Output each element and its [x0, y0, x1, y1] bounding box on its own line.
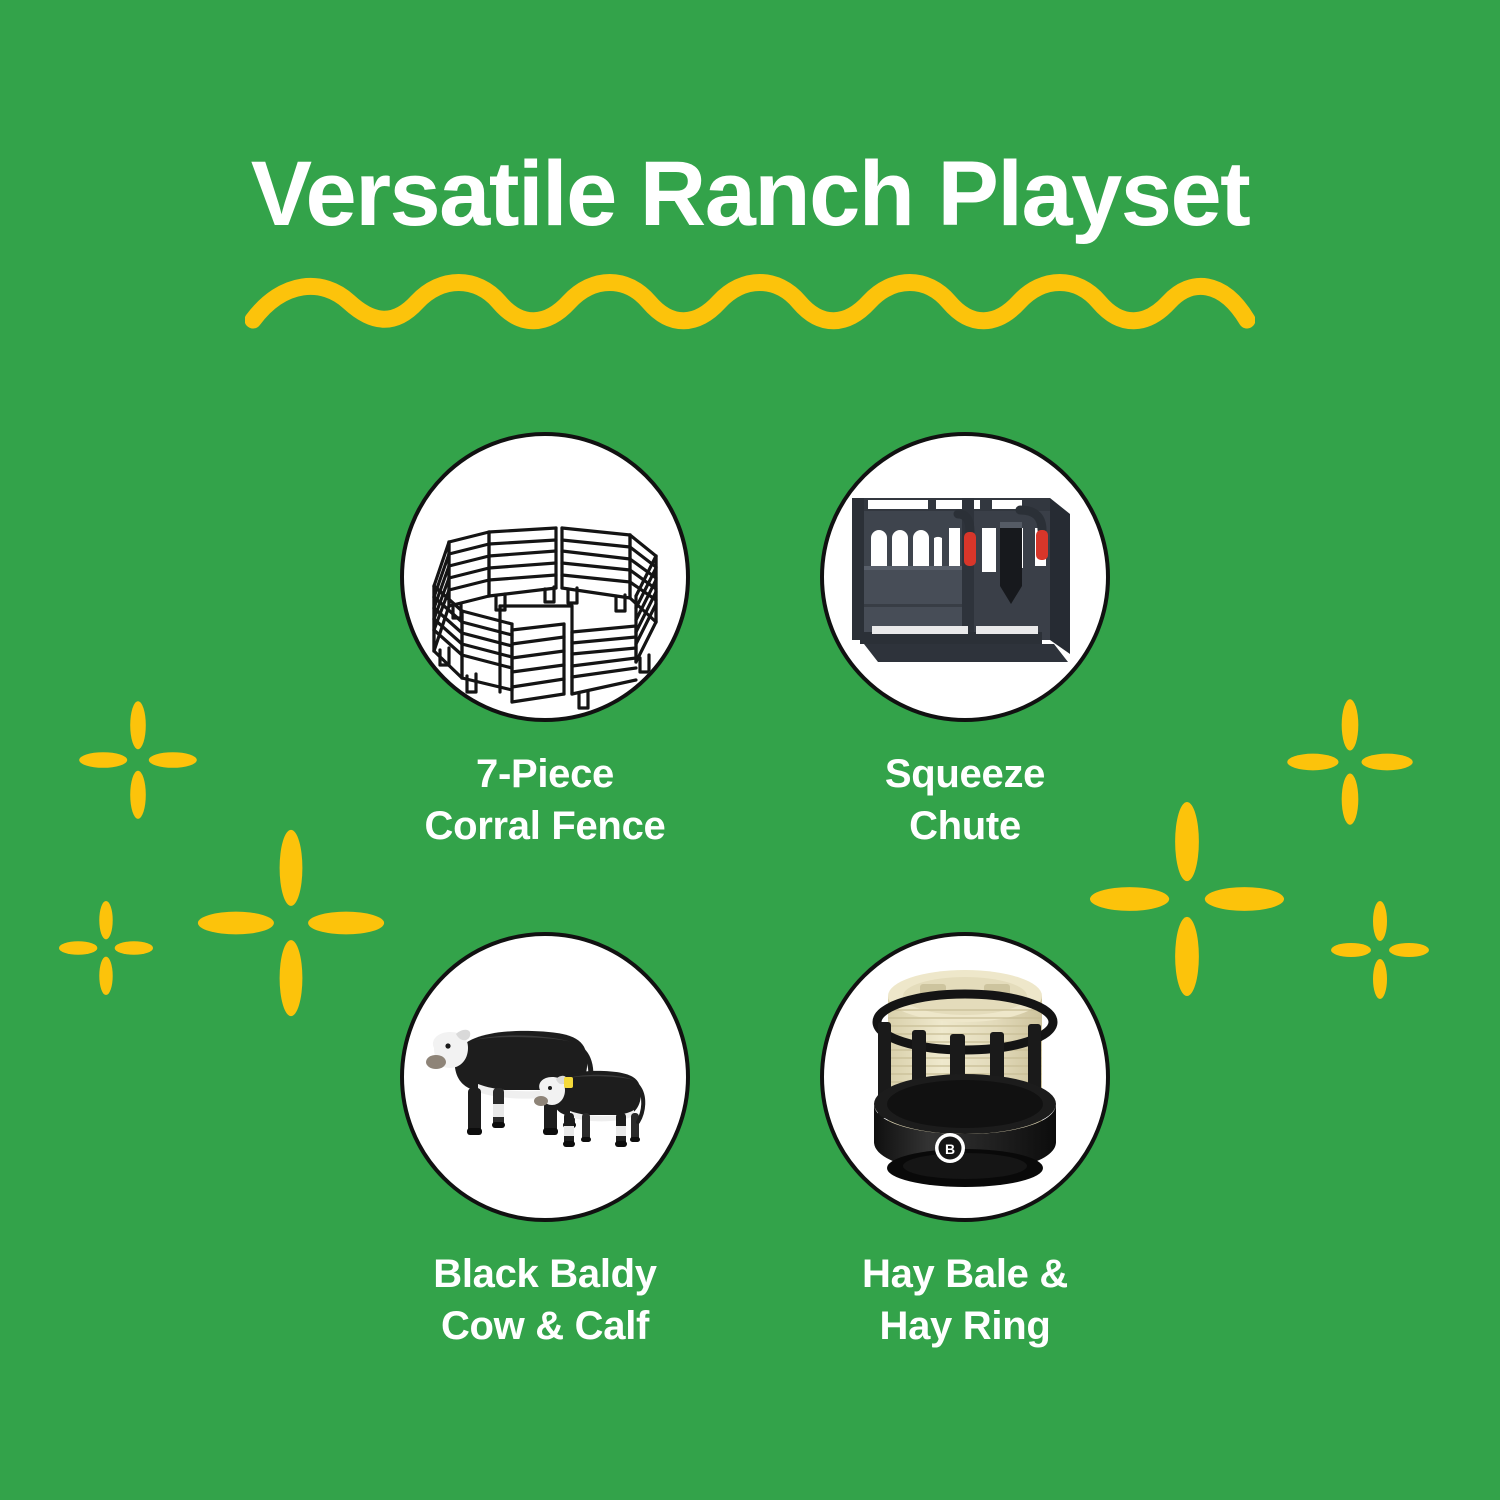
- product-image-bubble: B: [820, 932, 1110, 1222]
- infographic-canvas: Versatile Ranch Playset: [0, 0, 1500, 1500]
- product-label: Black Baldy Cow & Calf: [335, 1248, 755, 1352]
- squeeze-chute-icon: [824, 436, 1106, 718]
- four-point-sparkle-icon: [58, 900, 154, 996]
- chute-handle-red: [1036, 530, 1048, 560]
- ear-tag: [564, 1077, 573, 1088]
- chute-handle-red: [964, 532, 976, 566]
- wavy-squiggle-icon: [245, 272, 1255, 336]
- product-label: Squeeze Chute: [755, 748, 1175, 852]
- product-item-cow-and-calf[interactable]: Black Baldy Cow & Calf: [335, 932, 755, 1352]
- product-item-squeeze-chute[interactable]: Squeeze Chute: [755, 432, 1175, 852]
- hay-bale-hay-ring-icon: B: [824, 936, 1106, 1218]
- page-title: Versatile Ranch Playset: [0, 148, 1500, 242]
- four-point-sparkle-icon: [78, 700, 198, 820]
- product-item-corral-fence[interactable]: 7-Piece Corral Fence: [335, 432, 755, 852]
- svg-text:B: B: [945, 1141, 955, 1157]
- product-image-bubble: [400, 932, 690, 1222]
- product-label: Hay Bale & Hay Ring: [755, 1248, 1175, 1352]
- corral-fence-icon: [404, 436, 686, 718]
- brand-badge-icon: B: [935, 1133, 965, 1163]
- product-label: 7-Piece Corral Fence: [335, 748, 755, 852]
- four-point-sparkle-icon: [1286, 698, 1414, 826]
- product-image-bubble: [820, 432, 1110, 722]
- four-point-sparkle-icon: [1330, 900, 1430, 1000]
- black-baldy-cow-calf-icon: [404, 936, 686, 1218]
- product-item-hay-bale-ring[interactable]: B Hay Bale & Hay Ring: [755, 932, 1175, 1352]
- product-image-bubble: [400, 432, 690, 722]
